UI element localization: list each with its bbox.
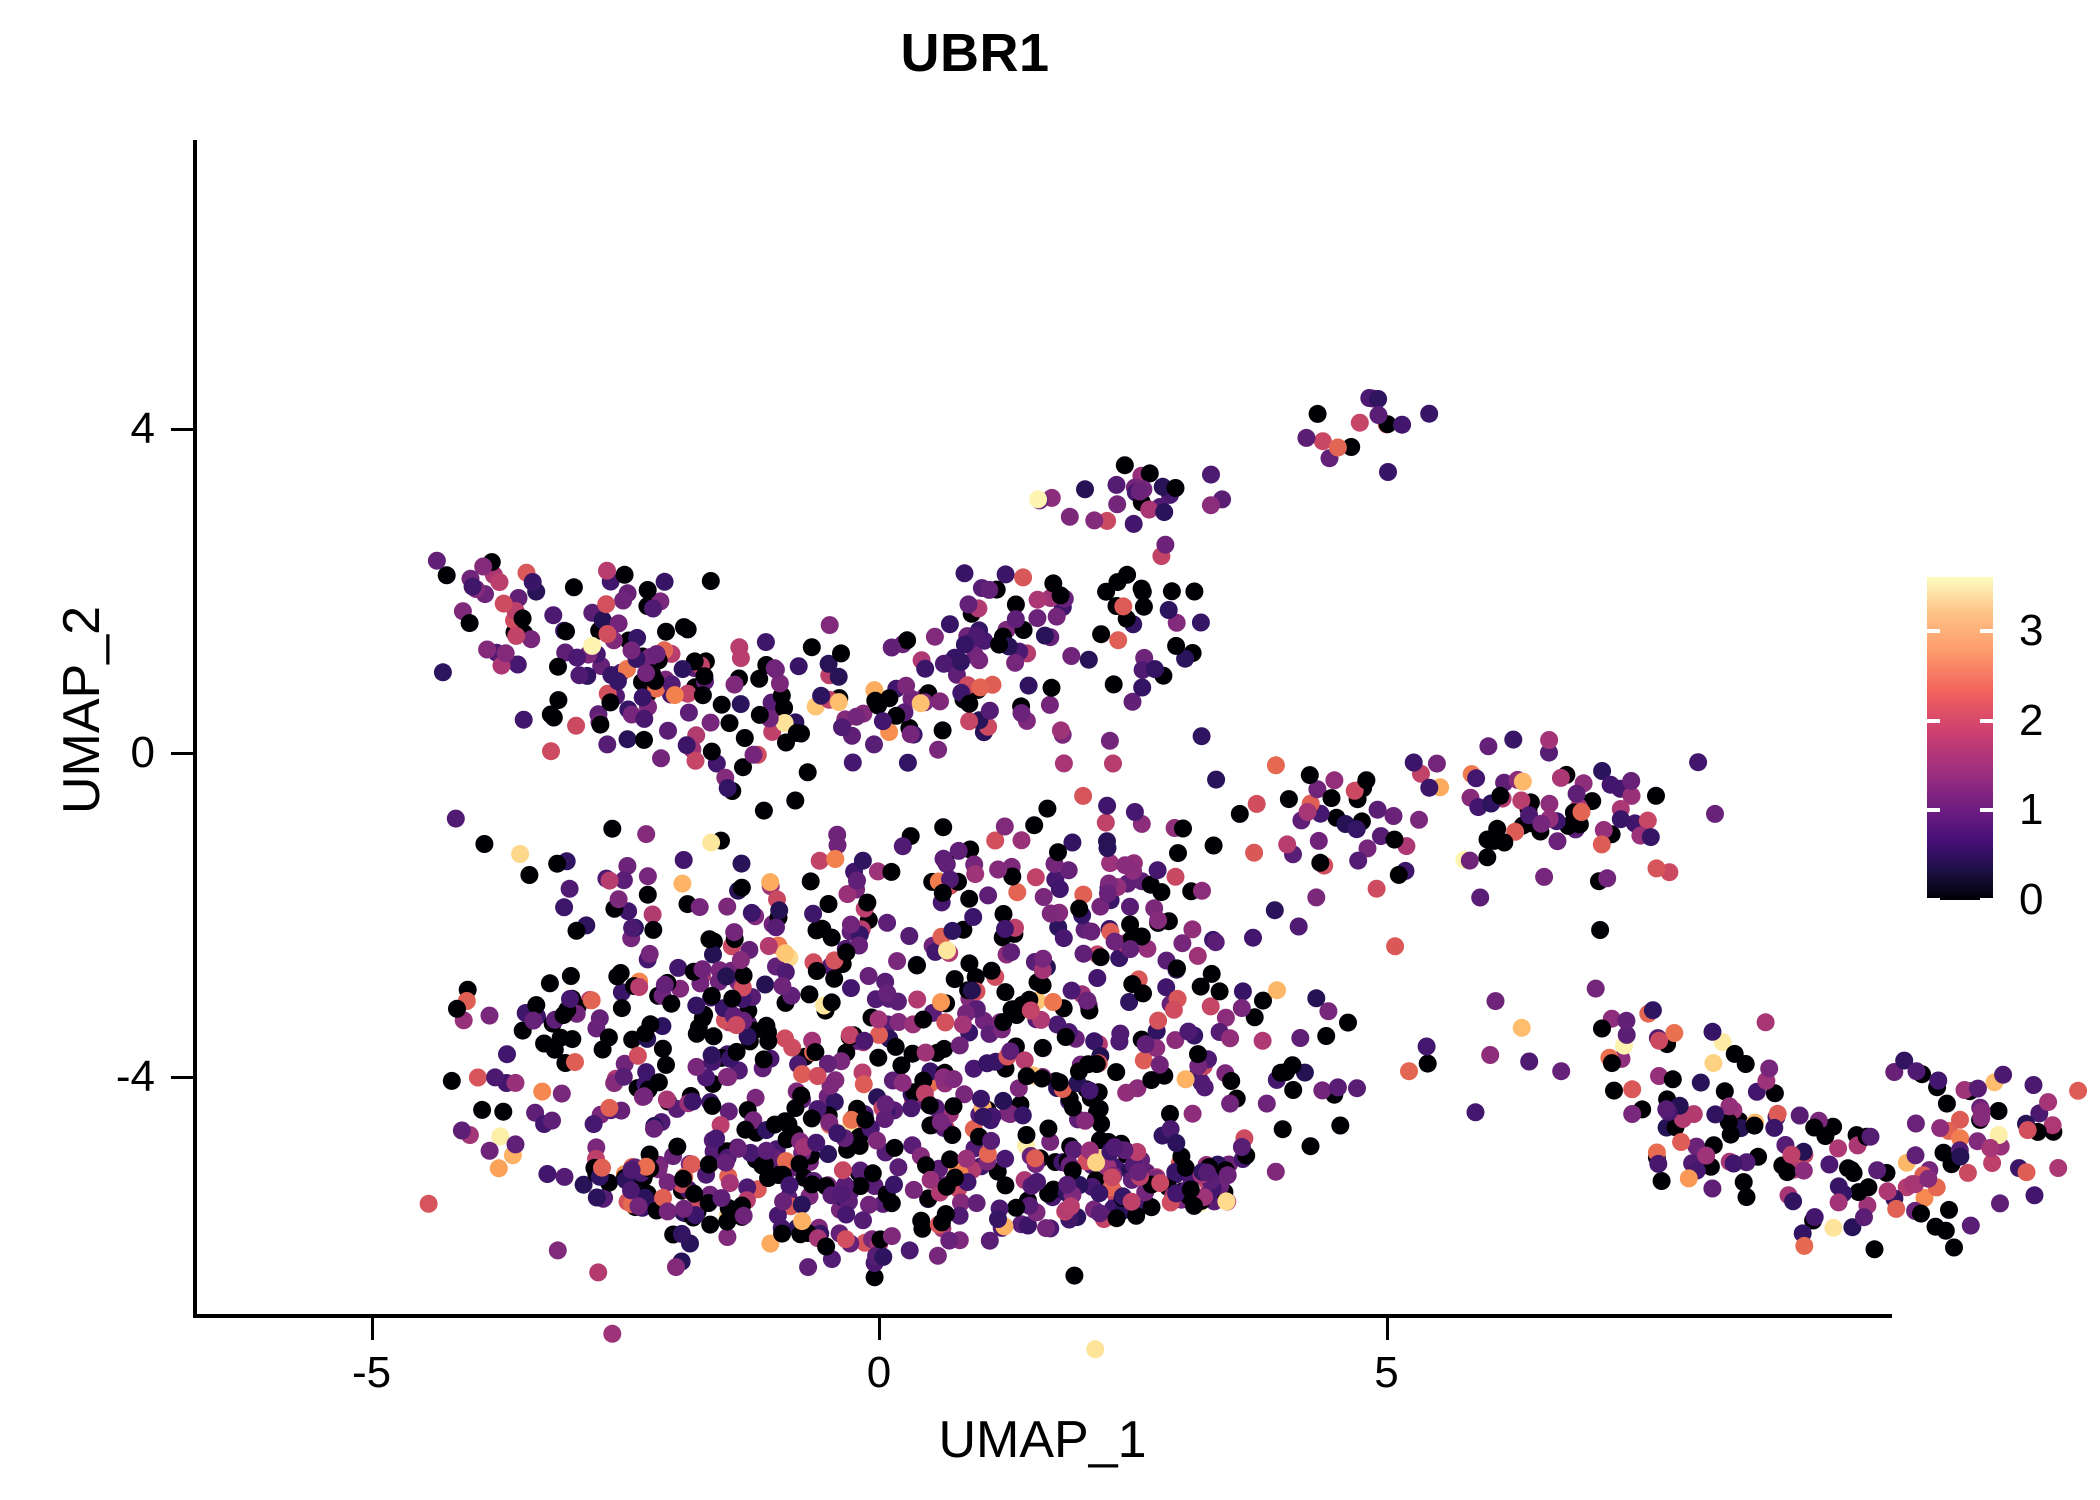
scatter-point	[1571, 815, 1589, 833]
scatter-point	[1267, 1163, 1285, 1181]
scatter-point	[747, 1089, 765, 1107]
scatter-point	[1549, 832, 1567, 850]
scatter-point	[1339, 1014, 1357, 1032]
scatter-point	[475, 835, 493, 853]
scatter-point	[1843, 1218, 1861, 1236]
scatter-point	[495, 595, 513, 613]
scatter-point	[938, 941, 956, 959]
scatter-point	[1158, 952, 1176, 970]
scatter-point	[823, 1250, 841, 1268]
scatter-point	[637, 1158, 655, 1176]
scatter-point	[1495, 774, 1513, 792]
scatter-point	[725, 1007, 743, 1025]
scatter-point	[1859, 1178, 1877, 1196]
scatter-point	[974, 1098, 992, 1116]
scatter-point	[935, 1119, 953, 1137]
scatter-point	[1000, 637, 1018, 655]
scatter-point	[718, 898, 736, 916]
scatter-point	[923, 1116, 941, 1134]
scatter-point	[922, 1171, 940, 1189]
scatter-point	[776, 1029, 794, 1047]
scatter-point	[717, 967, 735, 985]
scatter-point	[1342, 438, 1360, 456]
scatter-point	[603, 1325, 621, 1343]
scatter-point	[605, 631, 623, 649]
scatter-point	[674, 1204, 692, 1222]
scatter-point	[1198, 1172, 1216, 1190]
scatter-point	[1076, 921, 1094, 939]
scatter-point	[688, 1058, 706, 1076]
scatter-point	[689, 1195, 707, 1213]
scatter-point	[1097, 583, 1115, 601]
scatter-point	[1994, 1066, 2012, 1084]
scatter-point	[842, 916, 860, 934]
scatter-point	[867, 690, 885, 708]
scatter-point	[733, 879, 751, 897]
scatter-point	[1132, 1151, 1150, 1169]
scatter-point	[1623, 1080, 1641, 1098]
scatter-point	[1178, 1181, 1196, 1199]
scatter-point	[1378, 415, 1396, 433]
scatter-point	[1095, 1149, 1113, 1167]
scatter-point	[639, 581, 657, 599]
scatter-point	[1063, 834, 1081, 852]
scatter-point	[1062, 1197, 1080, 1215]
scatter-point	[723, 990, 741, 1008]
scatter-point	[923, 873, 941, 891]
scatter-point	[1570, 798, 1588, 816]
scatter-point	[1302, 1137, 1320, 1155]
scatter-point	[856, 1111, 874, 1129]
scatter-point	[946, 1169, 964, 1187]
scatter-point	[585, 1115, 603, 1133]
scatter-point	[1603, 1054, 1621, 1072]
scatter-point	[961, 634, 979, 652]
scatter-point	[952, 1194, 970, 1212]
scatter-point	[968, 1000, 986, 1018]
scatter-point	[1211, 982, 1229, 1000]
scatter-point	[1248, 795, 1266, 813]
scatter-point	[1167, 1184, 1185, 1202]
scatter-point	[518, 564, 536, 582]
scatter-point	[743, 988, 761, 1006]
scatter-point	[568, 922, 586, 940]
scatter-point	[1116, 856, 1134, 874]
scatter-point	[685, 1185, 703, 1203]
scatter-point	[808, 921, 826, 939]
scatter-point	[905, 1083, 923, 1101]
scatter-point	[515, 624, 533, 642]
scatter-point	[1156, 536, 1174, 554]
scatter-point	[820, 1113, 838, 1131]
scatter-point	[486, 1068, 504, 1086]
scatter-point	[809, 1067, 827, 1085]
scatter-point	[1010, 643, 1028, 661]
scatter-point	[718, 1045, 736, 1063]
scatter-point	[1151, 1056, 1169, 1074]
scatter-point	[623, 1195, 641, 1213]
scatter-point	[1162, 1194, 1180, 1212]
scatter-point	[799, 1258, 817, 1276]
scatter-point	[645, 1117, 663, 1135]
scatter-point	[978, 1153, 996, 1171]
scatter-point	[1704, 1023, 1722, 1041]
scatter-point	[854, 1211, 872, 1229]
scatter-point	[960, 890, 978, 908]
scatter-point	[704, 946, 722, 964]
scatter-point	[991, 1013, 1009, 1031]
scatter-point	[562, 967, 580, 985]
scatter-point	[1245, 844, 1263, 862]
scatter-point	[819, 1145, 837, 1163]
scatter-point	[930, 1160, 948, 1178]
scatter-point	[2025, 1076, 2043, 1094]
scatter-point	[997, 565, 1015, 583]
scatter-point	[1658, 1035, 1676, 1053]
scatter-point	[623, 641, 641, 659]
scatter-point	[616, 1055, 634, 1073]
scatter-point	[1165, 1001, 1183, 1019]
scatter-point	[1015, 621, 1033, 639]
scatter-point	[955, 1085, 973, 1103]
scatter-point	[1868, 1161, 1886, 1179]
scatter-point	[1106, 1138, 1124, 1156]
scatter-point	[674, 1170, 692, 1188]
scatter-point	[1469, 798, 1487, 816]
scatter-point	[930, 873, 948, 891]
scatter-point	[641, 1160, 659, 1178]
scatter-point	[673, 1225, 691, 1243]
scatter-point	[1940, 1122, 1958, 1140]
scatter-point	[1111, 1025, 1129, 1043]
scatter-point	[1593, 835, 1611, 853]
scatter-point	[959, 1173, 977, 1191]
colorbar-legend: 3210	[1927, 577, 1993, 900]
scatter-point	[663, 675, 681, 693]
scatter-point	[1568, 785, 1586, 803]
scatter-point	[966, 1139, 984, 1157]
scatter-point	[609, 672, 627, 690]
scatter-point	[941, 1105, 959, 1123]
scatter-point	[697, 1069, 715, 1087]
scatter-point	[970, 621, 988, 639]
scatter-point	[929, 741, 947, 759]
scatter-point	[654, 1040, 672, 1058]
scatter-point	[1611, 780, 1629, 798]
scatter-point	[1079, 1055, 1097, 1073]
scatter-point	[1073, 906, 1091, 924]
scatter-point	[1020, 991, 1038, 1009]
scatter-point	[937, 994, 955, 1012]
scatter-point	[1795, 1162, 1813, 1180]
scatter-point	[1048, 1016, 1066, 1034]
scatter-point	[938, 1178, 956, 1196]
scatter-point	[1348, 820, 1366, 838]
scatter-point	[1600, 1049, 1618, 1067]
scatter-point	[1297, 429, 1315, 447]
scatter-point	[718, 1142, 736, 1160]
scatter-point	[1056, 590, 1074, 608]
scatter-point	[933, 1213, 951, 1231]
scatter-point	[1134, 984, 1152, 1002]
scatter-point	[820, 895, 838, 913]
scatter-point	[1191, 1194, 1209, 1212]
scatter-point	[1166, 819, 1184, 837]
scatter-point	[1266, 901, 1284, 919]
scatter-point	[1244, 929, 1262, 947]
scatter-point	[740, 941, 758, 959]
scatter-point	[1552, 769, 1570, 787]
scatter-point	[1043, 489, 1061, 507]
scatter-point	[926, 628, 944, 646]
scatter-point	[623, 1158, 641, 1176]
scatter-point	[647, 680, 665, 698]
scatter-point	[1181, 1188, 1199, 1206]
scatter-point	[1862, 1128, 1880, 1146]
scatter-point	[1193, 1166, 1211, 1184]
scatter-point	[1064, 1161, 1082, 1179]
scatter-point	[1724, 1101, 1742, 1119]
scatter-point	[768, 890, 786, 908]
scatter-point	[924, 1004, 942, 1022]
scatter-point	[850, 1164, 868, 1182]
scatter-point	[761, 1235, 779, 1253]
scatter-point	[802, 872, 820, 890]
scatter-point	[1290, 918, 1308, 936]
scatter-point	[937, 1205, 955, 1223]
scatter-point	[1058, 1201, 1076, 1219]
scatter-point	[639, 867, 657, 885]
scatter-point	[1052, 721, 1070, 739]
scatter-point	[1088, 945, 1106, 963]
scatter-point	[952, 653, 970, 671]
scatter-point	[769, 937, 787, 955]
scatter-point	[1125, 854, 1143, 872]
scatter-point	[760, 937, 778, 955]
scatter-point	[931, 692, 949, 710]
scatter-point	[683, 740, 701, 758]
scatter-point	[509, 656, 527, 674]
scatter-point	[594, 611, 612, 629]
scatter-point	[567, 717, 585, 735]
scatter-point	[1007, 610, 1025, 628]
scatter-point	[1071, 1176, 1089, 1194]
scatter-point	[880, 723, 898, 741]
scatter-point	[728, 1043, 746, 1061]
scatter-point	[1133, 872, 1151, 890]
scatter-point	[1292, 811, 1310, 829]
scatter-point	[873, 1099, 891, 1117]
scatter-point	[1003, 858, 1021, 876]
scatter-point	[634, 688, 652, 706]
scatter-point	[650, 1160, 668, 1178]
scatter-point	[865, 735, 883, 753]
scatter-point	[721, 1004, 739, 1022]
scatter-point	[1022, 1147, 1040, 1165]
scatter-point	[1058, 1184, 1076, 1202]
scatter-point	[1268, 1071, 1286, 1089]
scatter-point	[836, 1129, 854, 1147]
scatter-point	[633, 1199, 651, 1217]
scatter-point	[822, 957, 840, 975]
scatter-point	[522, 630, 540, 648]
scatter-point	[1032, 1011, 1050, 1029]
scatter-point	[1795, 1237, 1813, 1255]
scatter-point	[641, 1193, 659, 1211]
scatter-point	[553, 1085, 571, 1103]
y-axis-line	[193, 140, 197, 1318]
scatter-point	[618, 660, 636, 678]
scatter-point	[879, 1015, 897, 1033]
scatter-point	[1461, 852, 1479, 870]
scatter-point	[601, 693, 619, 711]
scatter-point	[869, 1049, 887, 1067]
scatter-point	[591, 1168, 609, 1186]
scatter-point	[1552, 1062, 1570, 1080]
scatter-point	[981, 702, 999, 720]
scatter-point	[1074, 886, 1092, 904]
scatter-point	[498, 1074, 516, 1092]
scatter-point	[1014, 568, 1032, 586]
scatter-point	[1013, 704, 1031, 722]
scatter-point	[1234, 982, 1252, 1000]
scatter-point	[1185, 583, 1203, 601]
scatter-point	[1587, 980, 1605, 998]
scatter-point	[1063, 1186, 1081, 1204]
scatter-point	[1780, 1186, 1798, 1204]
scatter-point	[1058, 1176, 1076, 1194]
scatter-point	[1919, 1170, 1937, 1188]
scatter-point	[1202, 496, 1220, 514]
scatter-point	[889, 1158, 907, 1176]
scatter-point	[761, 873, 779, 891]
scatter-point	[780, 1188, 798, 1206]
scatter-point	[975, 632, 993, 650]
scatter-point	[1657, 1100, 1675, 1118]
scatter-point	[990, 636, 1008, 654]
scatter-point	[796, 1048, 814, 1066]
scatter-point	[1219, 1166, 1237, 1184]
scatter-point	[1757, 1072, 1775, 1090]
scatter-point	[1603, 1010, 1621, 1028]
scatter-point	[934, 1068, 952, 1086]
scatter-point	[507, 627, 525, 645]
scatter-point	[664, 1226, 682, 1244]
scatter-point	[998, 621, 1016, 639]
scatter-point	[473, 1101, 491, 1119]
scatter-point	[812, 687, 830, 705]
scatter-point	[757, 1017, 775, 1035]
scatter-point	[1007, 596, 1025, 614]
scatter-point	[583, 991, 601, 1009]
scatter-point	[964, 1161, 982, 1179]
scatter-point	[1735, 1173, 1753, 1191]
scatter-point	[759, 1032, 777, 1050]
scatter-point	[1983, 1154, 2001, 1172]
scatter-point	[678, 736, 696, 754]
scatter-point	[598, 625, 616, 643]
scatter-point	[995, 905, 1013, 923]
scatter-point	[1937, 1222, 1955, 1240]
scatter-point	[1115, 1201, 1133, 1219]
scatter-point	[1038, 800, 1056, 818]
scatter-point	[1010, 1079, 1028, 1097]
scatter-point	[960, 954, 978, 972]
scatter-point	[1168, 961, 1186, 979]
scatter-point	[807, 698, 825, 716]
scatter-point	[872, 1230, 890, 1248]
scatter-point	[840, 1193, 858, 1211]
scatter-point	[1164, 1187, 1182, 1205]
scatter-point	[1990, 1126, 2008, 1144]
scatter-point	[1540, 744, 1558, 762]
scatter-point	[1776, 1136, 1794, 1154]
scatter-point	[1018, 1067, 1036, 1085]
scatter-point	[762, 1050, 780, 1068]
scatter-point	[717, 1154, 735, 1172]
scatter-point	[659, 1173, 677, 1191]
scatter-point	[1848, 1126, 1866, 1144]
scatter-point	[524, 1012, 542, 1030]
scatter-point	[916, 1085, 934, 1103]
scatter-point	[599, 685, 617, 703]
scatter-point	[1028, 1173, 1046, 1191]
scatter-point	[1052, 586, 1070, 604]
scatter-point	[775, 699, 793, 717]
scatter-point	[1487, 992, 1505, 1010]
scatter-point	[1369, 390, 1387, 408]
scatter-point	[1062, 647, 1080, 665]
scatter-point	[739, 1101, 757, 1119]
scatter-point	[866, 1254, 884, 1272]
scatter-point	[1410, 811, 1428, 829]
scatter-point	[845, 1026, 863, 1044]
scatter-point	[1055, 754, 1073, 772]
scatter-point	[1299, 803, 1317, 821]
scatter-point	[1081, 1142, 1099, 1160]
scatter-point	[788, 1082, 806, 1100]
scatter-point	[971, 678, 989, 696]
scatter-point	[1072, 1056, 1090, 1074]
scatter-point	[1478, 848, 1496, 866]
scatter-point	[986, 832, 1004, 850]
scatter-point	[619, 902, 637, 920]
scatter-point	[681, 1155, 699, 1173]
scatter-point	[978, 1054, 996, 1072]
scatter-point	[1100, 879, 1118, 897]
scatter-point	[1054, 598, 1072, 616]
scatter-point	[924, 937, 942, 955]
scatter-point	[546, 1041, 564, 1059]
scatter-point	[1176, 650, 1194, 668]
scatter-point	[746, 907, 764, 925]
scatter-point	[1369, 801, 1387, 819]
scatter-point	[694, 1009, 712, 1027]
scatter-point	[1207, 1176, 1225, 1194]
scatter-point	[795, 1138, 813, 1156]
scatter-point	[956, 564, 974, 582]
scatter-point	[675, 618, 693, 636]
scatter-point	[635, 710, 653, 728]
scatter-point	[1123, 1193, 1141, 1211]
scatter-point	[883, 1227, 901, 1245]
scatter-point	[524, 573, 542, 591]
scatter-point	[1200, 1158, 1218, 1176]
scatter-point	[1773, 1157, 1791, 1175]
colorbar-tick-mark	[1980, 808, 1993, 812]
scatter-point	[1034, 1039, 1052, 1057]
scatter-point	[842, 979, 860, 997]
